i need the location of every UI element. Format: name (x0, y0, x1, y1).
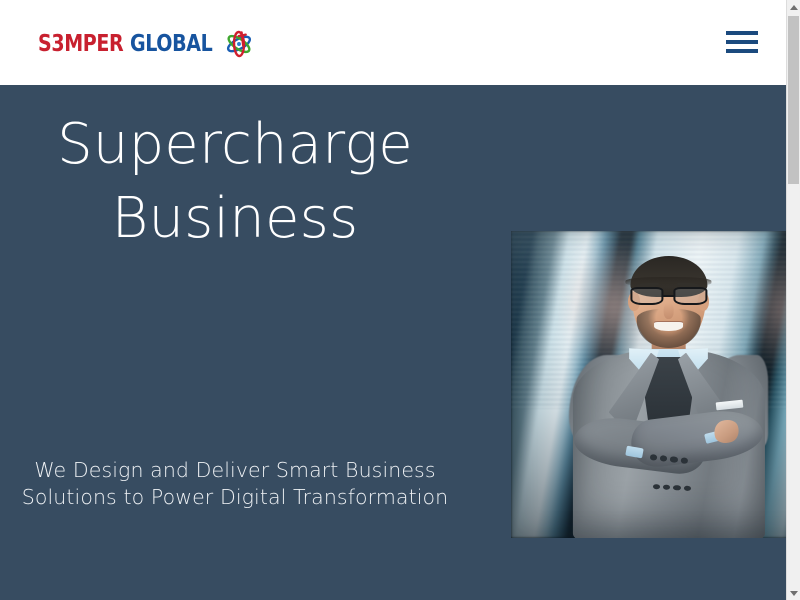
sleeve-button (649, 454, 657, 460)
hero-section: Supercharge Business We Design and Deliv… (0, 85, 786, 600)
scroll-up-arrow-icon[interactable] (787, 0, 800, 14)
hamburger-bar-1 (726, 31, 758, 35)
page-viewport: S3MPER GLOBAL (0, 0, 786, 600)
scrollbar-thumb[interactable] (788, 16, 799, 184)
cuff-button (653, 484, 660, 489)
hero-text-column: Supercharge Business We Design and Deliv… (0, 85, 470, 600)
brand-logo[interactable]: S3MPER GLOBAL (38, 28, 254, 60)
scroll-down-arrow-icon[interactable] (787, 586, 800, 600)
logo-text-global: GLOBAL (130, 33, 212, 56)
cuff-button (663, 484, 670, 489)
subject-nose (663, 303, 674, 320)
hamburger-bar-2 (726, 40, 758, 44)
arrow-up-glyph (790, 5, 798, 10)
glasses-lens-right (674, 287, 707, 304)
logo-text-semper: S3MPER (38, 33, 123, 56)
hero-heading: Supercharge Business (0, 108, 470, 256)
arrow-down-glyph (790, 591, 798, 596)
hero-photo (511, 231, 786, 538)
browser-page: S3MPER GLOBAL (0, 0, 800, 600)
vertical-scrollbar[interactable] (786, 0, 800, 600)
cuff-button (673, 485, 680, 490)
sleeve-button (670, 457, 678, 463)
photo-subject-businessman (511, 231, 786, 538)
hamburger-menu-icon[interactable] (726, 28, 758, 56)
atom-icon (224, 29, 254, 59)
glasses-lens-left (630, 287, 663, 304)
hero-subheading: We Design and Deliver Smart Business Sol… (0, 457, 470, 510)
glasses-bridge (664, 295, 673, 297)
sleeve-button (680, 458, 688, 464)
sleeve-button (660, 455, 668, 461)
hero-photo-image (511, 231, 786, 538)
site-header: S3MPER GLOBAL (0, 0, 786, 85)
subject-smile (654, 322, 684, 332)
cuff-button (683, 485, 690, 490)
hamburger-bar-3 (726, 49, 758, 53)
